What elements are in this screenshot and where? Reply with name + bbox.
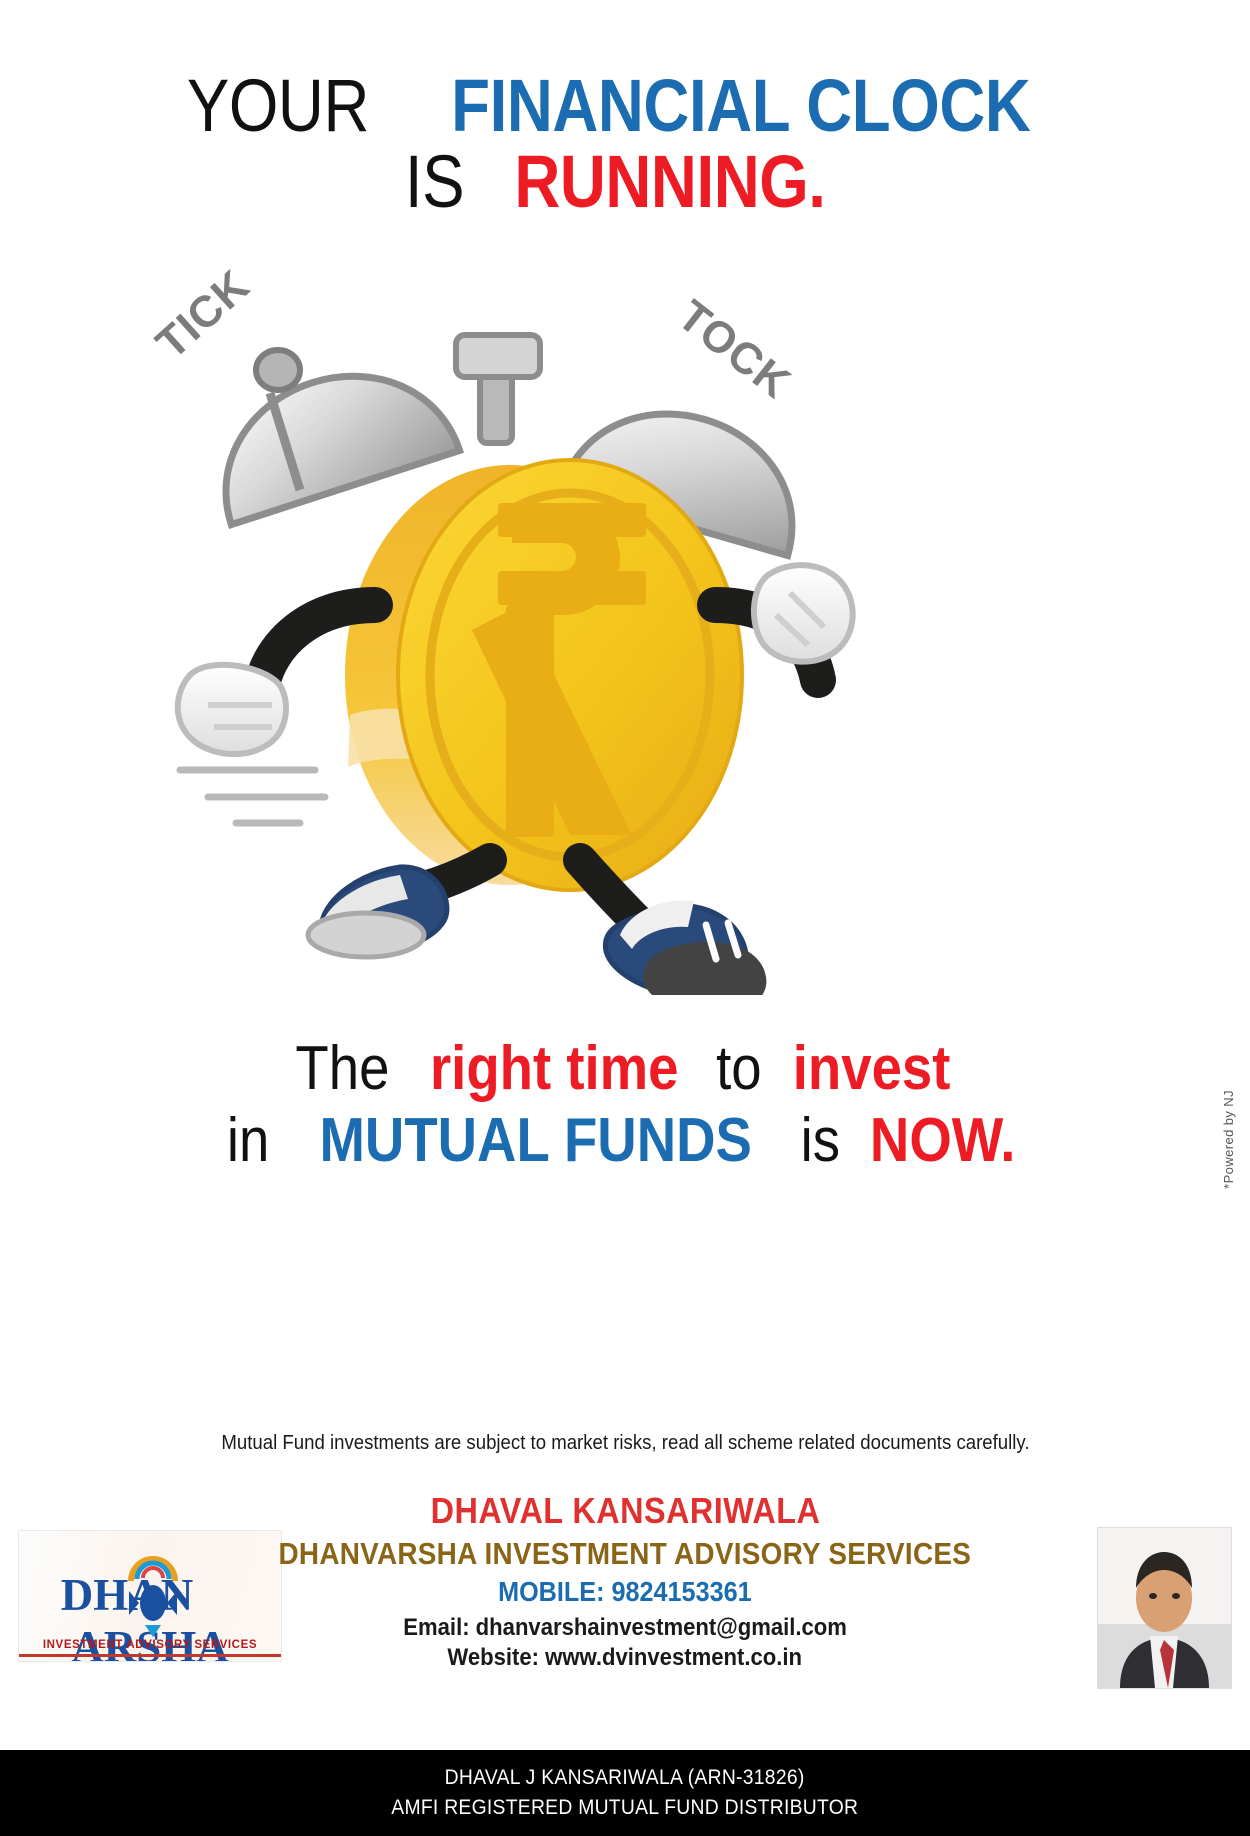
clock-button [456, 335, 540, 443]
headline-line-1: YOUR FINANCIAL CLOCK [0, 72, 1250, 140]
disclaimer-text: Mutual Fund investments are subject to m… [0, 1432, 1250, 1455]
headline-word-financial-clock: FINANCIAL CLOCK [451, 72, 1030, 140]
subhead-word-in: in [227, 1110, 269, 1172]
running-coin-illustration [150, 275, 940, 995]
footer-line-1: DHAVAL J KANSARIWALA (ARN-31826) [429, 1763, 820, 1793]
headline-line-2: IS RUNNING. [0, 148, 1250, 216]
contact-block: DHAVAL KANSARIWALA DHANVARSHA INVESTMENT… [0, 1490, 1250, 1672]
advisor-name: DHAVAL KANSARIWALA [0, 1490, 1250, 1532]
subhead-word-mutual-funds: MUTUAL FUNDS [319, 1110, 751, 1172]
footer-line-2: AMFI REGISTERED MUTUAL FUND DISTRIBUTOR [371, 1793, 879, 1823]
firm-name-text: DHANVARSHA INVESTMENT ADVISORY SERVICES [279, 1536, 972, 1572]
subhead-word-the: The [295, 1038, 389, 1100]
subhead-word-right-time: right time [430, 1038, 679, 1100]
right-leg [580, 860, 766, 995]
advisor-portrait [1097, 1527, 1232, 1689]
subhead-word-invest: invest [793, 1038, 951, 1100]
headline-word-running: RUNNING. [514, 148, 825, 216]
footer-bar: DHAVAL J KANSARIWALA (ARN-31826) AMFI RE… [0, 1750, 1250, 1836]
website-url-text: Website: www.dvinvestment.co.in [448, 1644, 803, 1672]
disclaimer-inner: Mutual Fund investments are subject to m… [221, 1432, 1029, 1455]
website-url[interactable]: Website: www.dvinvestment.co.in [0, 1644, 1250, 1672]
subhead-word-now: NOW. [870, 1110, 1015, 1172]
left-leg [308, 860, 490, 957]
advisor-name-text: DHAVAL KANSARIWALA [430, 1490, 820, 1532]
powered-by-label: *Powered by NJ [1221, 1090, 1236, 1189]
subhead-word-is: is [801, 1110, 840, 1172]
subhead-word-to: to [716, 1038, 762, 1100]
mobile-number-text: MOBILE: 9824153361 [498, 1576, 752, 1608]
headline-block: YOUR FINANCIAL CLOCK IS RUNNING. [0, 72, 1250, 216]
poster-canvas: YOUR FINANCIAL CLOCK IS RUNNING. TICK TO… [0, 0, 1250, 1836]
headline-word-your: YOUR [187, 72, 369, 140]
email-address[interactable]: Email: dhanvarshainvestment@gmail.com [0, 1614, 1250, 1642]
mobile-number[interactable]: MOBILE: 9824153361 [0, 1576, 1250, 1608]
subhead-line-1: The right time to invest [0, 1038, 1250, 1100]
headline-word-is: IS [404, 148, 463, 216]
alarm-bell-left [197, 346, 459, 525]
firm-name: DHANVARSHA INVESTMENT ADVISORY SERVICES [0, 1536, 1250, 1572]
subhead-block: The right time to invest in MUTUAL FUNDS… [0, 1038, 1250, 1172]
speed-lines [180, 770, 325, 823]
email-address-text: Email: dhanvarshainvestment@gmail.com [403, 1614, 847, 1642]
subhead-line-2: in MUTUAL FUNDS is NOW. [0, 1110, 1250, 1172]
